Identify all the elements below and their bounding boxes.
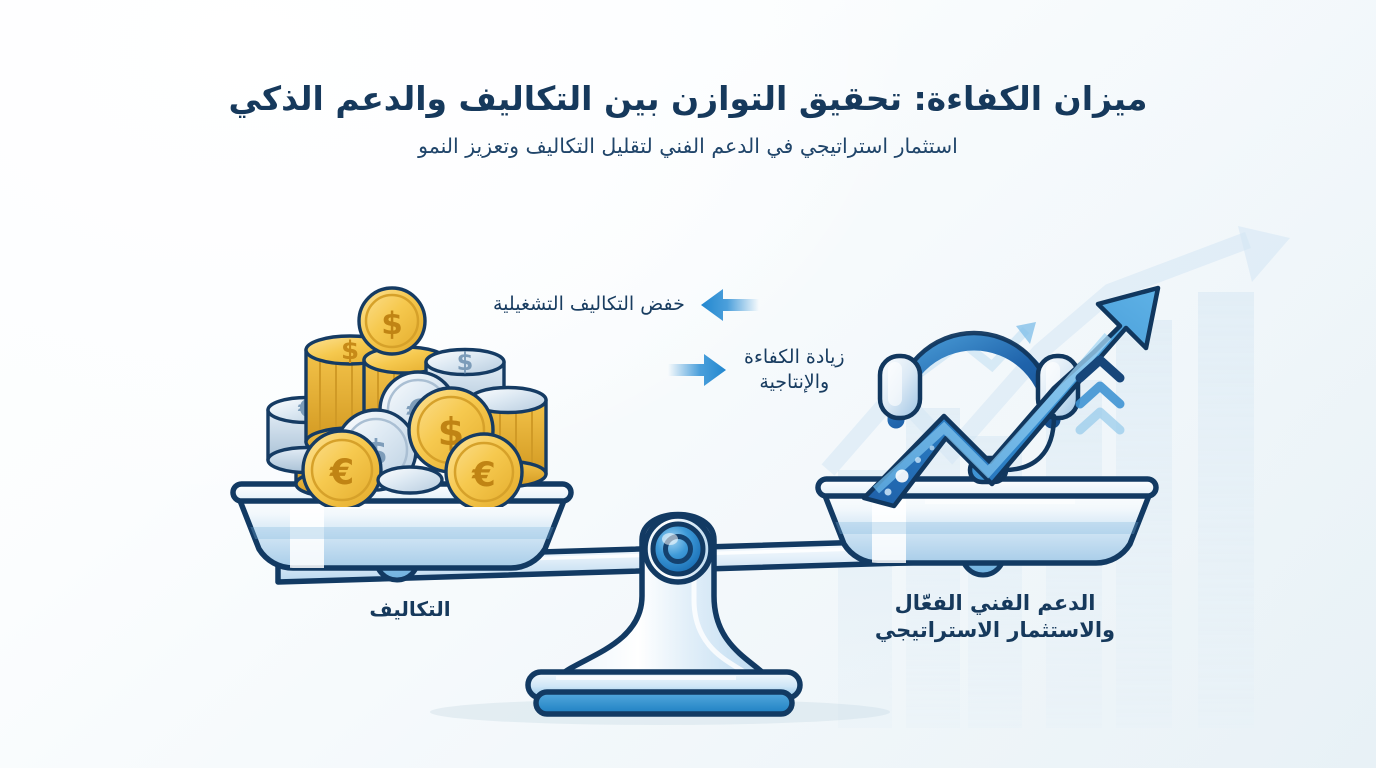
header: ميزان الكفاءة: تحقيق التوازن بين التكالي… xyxy=(0,78,1376,160)
annotation-reduce-costs-label: خفض التكاليف التشغيلية xyxy=(493,292,685,317)
stand-base-bottom xyxy=(536,692,792,714)
headset-growth-arrow-icon xyxy=(858,248,1188,513)
svg-text:$: $ xyxy=(457,348,474,376)
silver-coin-flat-icon xyxy=(378,467,442,493)
right-arrow-icon xyxy=(668,353,728,387)
annotation-increase-efficiency-label: زيادة الكفاءة والإنتاجية xyxy=(744,345,845,395)
left-arrow-icon xyxy=(699,288,759,322)
chevron-up-icon xyxy=(1080,360,1120,430)
svg-text:$: $ xyxy=(381,306,403,342)
infographic-canvas: ميزان الكفاءة: تحقيق التوازن بين التكالي… xyxy=(0,0,1376,768)
pan-label-support: الدعم الفني الفعّال والاستثمار الاستراتي… xyxy=(845,590,1145,645)
pan-label-costs: التكاليف xyxy=(305,596,515,622)
annotation-reduce-costs: خفض التكاليف التشغيلية xyxy=(493,288,759,322)
gold-coin-euro-icon-right: € xyxy=(446,434,522,507)
page-subtitle: استثمار استراتيجي في الدعم الفني لتقليل … xyxy=(0,133,1376,160)
svg-text:$: $ xyxy=(341,336,359,366)
svg-text:€: € xyxy=(471,455,496,495)
annotation-increase-efficiency: زيادة الكفاءة والإنتاجية xyxy=(668,345,845,395)
svg-text:€: € xyxy=(329,453,354,493)
headset-ear-cup-left xyxy=(880,356,920,418)
gold-coin-euro-icon-left: € xyxy=(303,431,381,507)
gold-coin-dollar-top-icon: $ xyxy=(359,288,425,354)
scale-pivot xyxy=(645,516,711,582)
page-title: ميزان الكفاءة: تحقيق التوازن بين التكالي… xyxy=(0,78,1376,120)
